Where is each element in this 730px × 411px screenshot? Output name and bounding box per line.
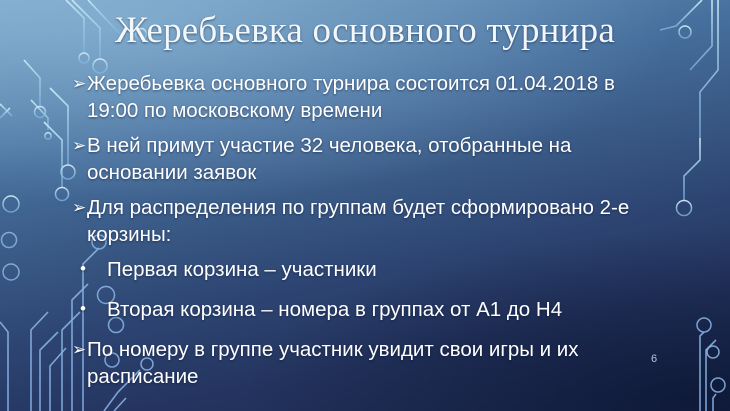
slide-body-list: ➢ Жеребьевка основного турнира состоится… bbox=[72, 70, 632, 398]
list-item: ➢ Жеребьевка основного турнира состоится… bbox=[72, 70, 632, 124]
list-item: ➢ По номеру в группе участник увидит сво… bbox=[72, 336, 632, 390]
circuit-pads-top-right bbox=[677, 26, 692, 216]
arrow-bullet-icon: ➢ bbox=[72, 336, 87, 363]
list-item: • Первая корзина – участники bbox=[72, 256, 632, 283]
list-item: • Вторая корзина – номера в группах от А… bbox=[72, 296, 632, 323]
presentation-slide: Жеребьевка основного турнира ➢ Жеребьевк… bbox=[0, 0, 730, 411]
circuit-traces-top-right bbox=[660, 0, 724, 411]
dot-bullet-icon: • bbox=[80, 296, 107, 322]
dot-bullet-icon: • bbox=[80, 256, 107, 282]
arrow-bullet-icon: ➢ bbox=[72, 132, 87, 159]
arrow-bullet-icon: ➢ bbox=[72, 194, 87, 221]
circuit-pads-bottom-right bbox=[697, 318, 725, 392]
list-item-text: Первая корзина – участники bbox=[107, 256, 632, 283]
list-item-text: В ней примут участие 32 человека, отобра… bbox=[87, 132, 632, 186]
list-item-text: По номеру в группе участник увидит свои … bbox=[87, 336, 632, 390]
page-number: 6 bbox=[645, 353, 663, 365]
list-item-text: Вторая корзина – номера в группах от А1 … bbox=[107, 296, 632, 323]
list-item: ➢ В ней примут участие 32 человека, отоб… bbox=[72, 132, 632, 186]
list-item: ➢ Для распределения по группам будет сфо… bbox=[72, 194, 632, 248]
list-item-text: Жеребьевка основного турнира состоится 0… bbox=[87, 70, 632, 124]
circuit-traces-bottom-right bbox=[692, 320, 718, 411]
slide-title: Жеребьевка основного турнира bbox=[0, 8, 730, 54]
list-item-text: Для распределения по группам будет сформ… bbox=[87, 194, 632, 248]
arrow-bullet-icon: ➢ bbox=[72, 70, 87, 97]
